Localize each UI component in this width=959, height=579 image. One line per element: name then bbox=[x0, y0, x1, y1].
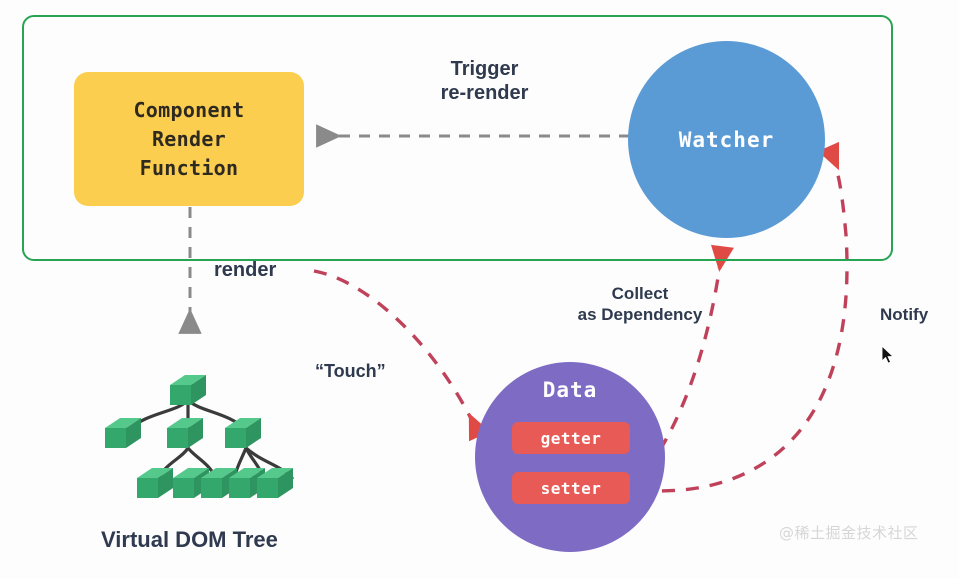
tree-node-root bbox=[170, 375, 206, 405]
diagram-canvas: Component Render Function Watcher Data g… bbox=[0, 0, 959, 579]
watcher-label: Watcher bbox=[679, 128, 775, 152]
setter-label: setter bbox=[541, 479, 602, 498]
render-box-line-2: Render bbox=[152, 125, 226, 154]
data-node[interactable]: Data getter setter bbox=[475, 362, 665, 552]
tree-node-child-1 bbox=[105, 418, 141, 448]
arrow-collect-as-dependency bbox=[660, 250, 722, 450]
getter-box[interactable]: getter bbox=[512, 422, 630, 454]
notify-label: Notify bbox=[880, 305, 928, 326]
setter-box[interactable]: setter bbox=[512, 472, 630, 504]
tree-node-child-3 bbox=[225, 418, 261, 448]
watcher-node[interactable]: Watcher bbox=[628, 41, 825, 238]
data-label: Data bbox=[475, 378, 665, 402]
tree-node-child-2 bbox=[167, 418, 203, 448]
collect-as-dependency-label: Collect as Dependency bbox=[575, 284, 705, 325]
arrow-touch bbox=[314, 271, 478, 433]
trigger-re-render-label: Trigger re-render bbox=[432, 57, 537, 106]
watermark: @稀土掘金技术社区 bbox=[779, 522, 919, 543]
component-render-function-box[interactable]: Component Render Function bbox=[74, 72, 304, 206]
virtual-dom-tree-label: Virtual DOM Tree bbox=[101, 527, 278, 554]
virtual-dom-tree bbox=[105, 375, 293, 498]
mouse-cursor-icon bbox=[881, 345, 895, 365]
render-box-line-3: Function bbox=[140, 154, 239, 183]
getter-label: getter bbox=[541, 429, 602, 448]
render-label: render bbox=[214, 258, 276, 282]
render-box-line-1: Component bbox=[133, 96, 244, 125]
touch-label: “Touch” bbox=[315, 361, 386, 383]
tree-node-leaf-1 bbox=[137, 468, 173, 498]
